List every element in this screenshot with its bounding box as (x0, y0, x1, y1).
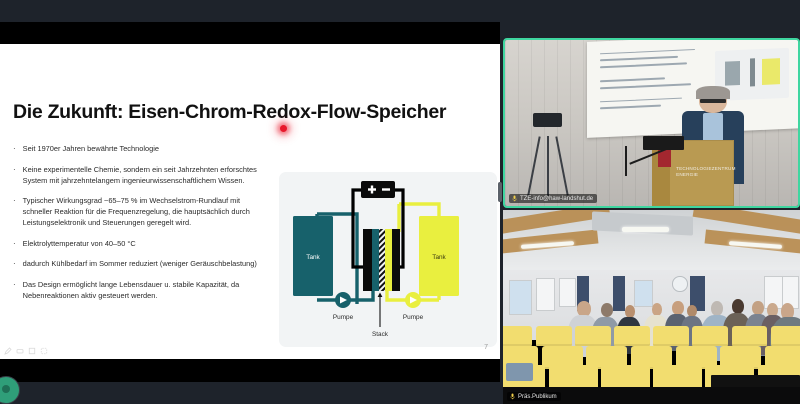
camera-tripod (526, 113, 570, 196)
microphone-icon (510, 393, 515, 400)
pen-icon[interactable] (4, 347, 12, 355)
bullet-marker-icon: · (13, 238, 16, 249)
bullet-text: dadurch Kühlbedarf im Sommer reduziert (… (23, 258, 257, 269)
laptop (643, 136, 684, 149)
speaker-label: TZE-info@haw-landshut.de (520, 196, 593, 202)
bullet-text: Elektrolyttemperatur von 40–50 °C (23, 238, 136, 249)
stack-label: Stack (372, 331, 389, 338)
half-cell-left (372, 229, 379, 291)
eraser-icon[interactable] (16, 347, 24, 355)
seat-row (503, 326, 800, 345)
speaker-tile[interactable]: TECHNOLOGIEZENTRUM ENERGIE TZE-info@haw-… (503, 38, 800, 208)
pump-left-label: Pumpe (333, 314, 354, 321)
microphone-stand (625, 146, 627, 176)
membrane (379, 229, 385, 291)
institution-logo (658, 150, 671, 167)
half-cell-right (385, 229, 392, 291)
audience-tile[interactable]: Präs.Publikum (503, 210, 800, 404)
bullet-marker-icon: · (13, 195, 16, 228)
pump-right-label: Pumpe (403, 314, 424, 321)
pump-right-shape (405, 292, 421, 308)
video-scrollbar-thumb[interactable] (498, 182, 502, 202)
electrode-positive (392, 229, 400, 291)
shape-icon[interactable] (28, 347, 36, 355)
electrode-negative (363, 229, 372, 291)
share-letterbox-bottom (0, 359, 500, 382)
bullet-marker-icon: · (13, 164, 16, 186)
bullet-text: Seit 1970er Jahren bewährte Technologie (23, 143, 159, 154)
bullet-text: Das Design ermöglicht lange Lebensdauer … (23, 279, 268, 301)
audience-scene (503, 210, 800, 404)
slide-page-number: 7 (484, 344, 488, 351)
pump-left-shape (335, 292, 351, 308)
diagram-svg: Tank Tank Pumpe Pumpe Stack (279, 172, 497, 347)
lectern-text: TECHNOLOGIEZENTRUM ENERGIE (676, 166, 736, 178)
microphone-icon (512, 195, 517, 202)
screen-share-region[interactable]: Die Zukunft: Eisen-Chrom-Redox-Flow-Spei… (0, 22, 500, 382)
list-item: · Keine experimentelle Chemie, sondern e… (13, 164, 268, 186)
redox-flow-battery-diagram: Tank Tank Pumpe Pumpe Stack (279, 172, 497, 347)
bottom-dock (0, 382, 500, 404)
annotation-toolbar[interactable] (4, 347, 48, 355)
video-tile-column: TECHNOLOGIEZENTRUM ENERGIE TZE-info@haw-… (503, 38, 800, 404)
meeting-stage: Die Zukunft: Eisen-Chrom-Redox-Flow-Spei… (0, 0, 800, 404)
list-item: · Das Design ermöglicht lange Lebensdaue… (13, 279, 268, 301)
speaker-name-tag: TZE-info@haw-landshut.de (509, 194, 597, 203)
audience-label: Präs.Publikum (518, 394, 557, 400)
share-letterbox-top (0, 22, 500, 44)
slide-bullet-list: · Seit 1970er Jahren bewährte Technologi… (13, 143, 268, 310)
list-item: · Typischer Wirkungsgrad ~65–75 % im Wec… (13, 195, 268, 228)
list-item: · dadurch Kühlbedarf im Sommer reduziert… (13, 258, 268, 269)
bullet-marker-icon: · (13, 143, 16, 154)
slide-title: Die Zukunft: Eisen-Chrom-Redox-Flow-Spei… (13, 101, 483, 124)
tank-right-label: Tank (432, 254, 446, 261)
tank-left-label: Tank (306, 254, 320, 261)
bag (506, 363, 533, 380)
bullet-marker-icon: · (13, 258, 16, 269)
bullet-text: Keine experimentelle Chemie, sondern ein… (23, 164, 268, 186)
presentation-slide[interactable]: Die Zukunft: Eisen-Chrom-Redox-Flow-Spei… (0, 44, 500, 359)
select-icon[interactable] (40, 347, 48, 355)
list-item: · Elektrolyttemperatur von 40–50 °C (13, 238, 268, 249)
audience-name-tag: Präs.Publikum (507, 392, 561, 401)
bullet-marker-icon: · (13, 279, 16, 301)
list-item: · Seit 1970er Jahren bewährte Technologi… (13, 143, 268, 154)
bullet-text: Typischer Wirkungsgrad ~65–75 % im Wechs… (23, 195, 268, 228)
speaker-scene: TECHNOLOGIEZENTRUM ENERGIE (505, 40, 798, 206)
laser-pointer-dot (280, 125, 287, 132)
